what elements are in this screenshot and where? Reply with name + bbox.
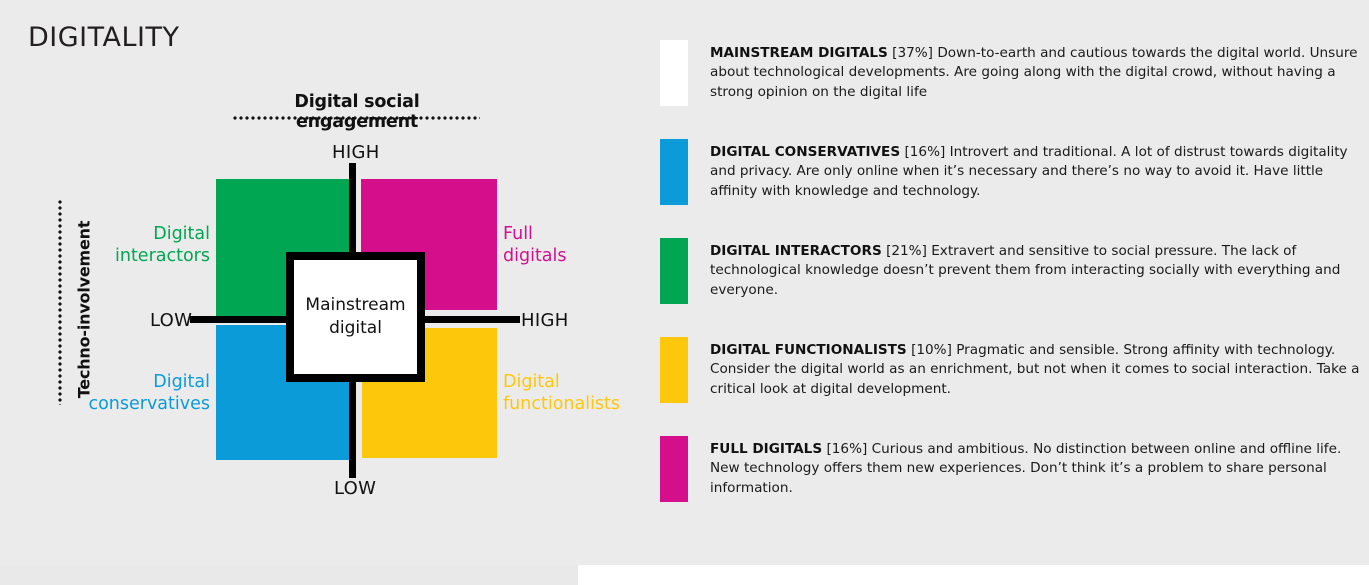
quadrant-label-digital-conservatives: Digital conservatives <box>52 372 210 416</box>
quadrant-label-line1: Full <box>503 224 533 244</box>
bottom-edge-strip-left <box>0 565 578 585</box>
quadrant-label-line2: conservatives <box>88 394 210 414</box>
center-segment-mainstream-digital: Mainstream digital <box>286 252 425 382</box>
legend-percent: [16%] <box>904 144 945 160</box>
x-axis-high-label: HIGH <box>521 310 569 331</box>
quadrant-label-line2: functionalists <box>503 394 620 414</box>
legend-text: DIGITAL INTERACTORS [21%] Extravert and … <box>710 238 1360 300</box>
center-label-line2: digital <box>329 317 382 340</box>
legend-text: DIGITAL CONSERVATIVES [16%] Introvert an… <box>710 139 1360 201</box>
legend-swatch-digital-interactors <box>660 238 688 304</box>
legend-item: DIGITAL CONSERVATIVES [16%] Introvert an… <box>660 139 1360 215</box>
legend-swatch-mainstream-digitals <box>660 40 688 106</box>
legend-name: DIGITAL FUNCTIONALISTS <box>710 342 907 358</box>
legend: MAINSTREAM DIGITALS [37%] Down-to-earth … <box>660 40 1360 535</box>
y-axis-high-label: HIGH <box>332 142 380 163</box>
quadrant-label-digital-functionalists: Digital functionalists <box>503 372 663 416</box>
legend-text: FULL DIGITALS [16%] Curious and ambitiou… <box>710 436 1360 498</box>
legend-percent: [37%] <box>892 45 933 61</box>
legend-text: DIGITAL FUNCTIONALISTS [10%] Pragmatic a… <box>710 337 1360 399</box>
quadrant-label-line1: Digital <box>503 372 560 392</box>
quadrant-label-digital-interactors: Digital interactors <box>75 224 210 268</box>
legend-swatch-full-digitals <box>660 436 688 502</box>
legend-item: FULL DIGITALS [16%] Curious and ambitiou… <box>660 436 1360 512</box>
legend-swatch-digital-functionalists <box>660 337 688 403</box>
legend-item: DIGITAL INTERACTORS [21%] Extravert and … <box>660 238 1360 314</box>
quadrant-label-line1: Digital <box>153 372 210 392</box>
legend-name: DIGITAL CONSERVATIVES <box>710 144 900 160</box>
y-axis-low-label: LOW <box>334 478 376 499</box>
x-axis-title: Digital social engagement <box>232 92 482 132</box>
center-label-line1: Mainstream <box>305 294 405 317</box>
quadrant-matrix: Digital social engagement Techno-involve… <box>0 0 660 560</box>
legend-name: DIGITAL INTERACTORS <box>710 243 882 259</box>
legend-percent: [21%] <box>886 243 927 259</box>
legend-name: MAINSTREAM DIGITALS <box>710 45 888 61</box>
legend-name: FULL DIGITALS <box>710 441 822 457</box>
quadrant-label-line2: interactors <box>115 246 210 266</box>
quadrant-label-full-digitals: Full digitals <box>503 224 653 268</box>
legend-percent: [10%] <box>911 342 952 358</box>
legend-item: DIGITAL FUNCTIONALISTS [10%] Pragmatic a… <box>660 337 1360 413</box>
legend-swatch-digital-conservatives <box>660 139 688 205</box>
quadrant-label-line1: Digital <box>153 224 210 244</box>
legend-percent: [16%] <box>826 441 867 457</box>
x-axis-dotted-rule <box>233 116 480 120</box>
legend-text: MAINSTREAM DIGITALS [37%] Down-to-earth … <box>710 40 1360 102</box>
legend-item: MAINSTREAM DIGITALS [37%] Down-to-earth … <box>660 40 1360 116</box>
quadrant-label-line2: digitals <box>503 246 567 266</box>
x-axis-low-label: LOW <box>150 310 192 331</box>
